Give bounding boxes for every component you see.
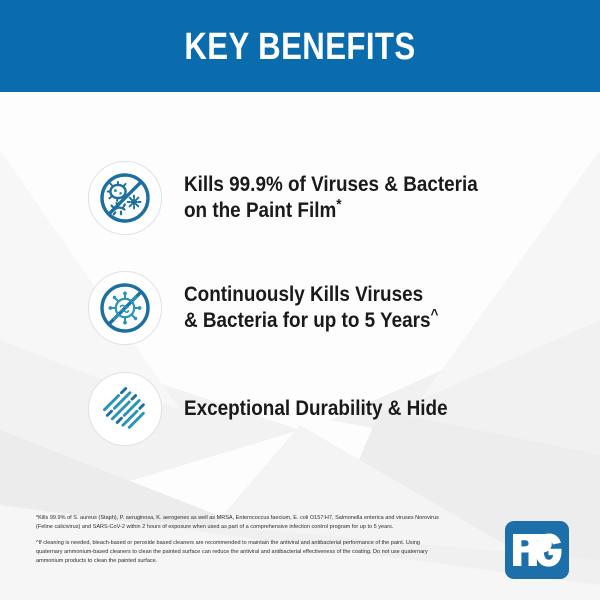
footnote-caret: ^If cleaning is needed, bleach-based or … bbox=[36, 539, 444, 566]
benefit-text: Exceptional Durability & Hide bbox=[184, 397, 448, 420]
page-title: KEY BENEFITS bbox=[184, 28, 415, 66]
benefit-label: Kills 99.9% of Viruses & Bacteria on the… bbox=[184, 172, 478, 223]
footnotes: *Kills 99.9% of S. aureus (Staph), P. ae… bbox=[36, 514, 448, 573]
benefit-label: Exceptional Durability & Hide bbox=[184, 396, 448, 422]
benefit-item: Continuously Kills Viruses & Bacteria fo… bbox=[0, 260, 600, 356]
benefit-footnote-marker: ^ bbox=[431, 306, 439, 323]
paint-strokes-icon bbox=[88, 372, 162, 446]
benefit-item: Exceptional Durability & Hide bbox=[0, 370, 600, 448]
ppg-logo bbox=[504, 520, 570, 580]
benefit-item: Kills 99.9% of Viruses & Bacteria on the… bbox=[0, 150, 600, 246]
footnote-asterisk: *Kills 99.9% of S. aureus (Staph), P. ae… bbox=[36, 514, 444, 532]
benefit-footnote-marker: * bbox=[336, 196, 341, 213]
key-benefits-page: KEY BENEFITS bbox=[0, 0, 600, 600]
benefit-text: Continuously Kills Viruses & Bacteria fo… bbox=[184, 283, 431, 332]
benefit-text: Kills 99.9% of Viruses & Bacteria on the… bbox=[184, 173, 478, 222]
benefits-list: Kills 99.9% of Viruses & Bacteria on the… bbox=[0, 150, 600, 462]
no-virus-icon bbox=[88, 271, 162, 345]
page-header: KEY BENEFITS bbox=[0, 0, 600, 92]
no-germs-icon bbox=[88, 161, 162, 235]
benefit-label: Continuously Kills Viruses & Bacteria fo… bbox=[184, 282, 438, 333]
